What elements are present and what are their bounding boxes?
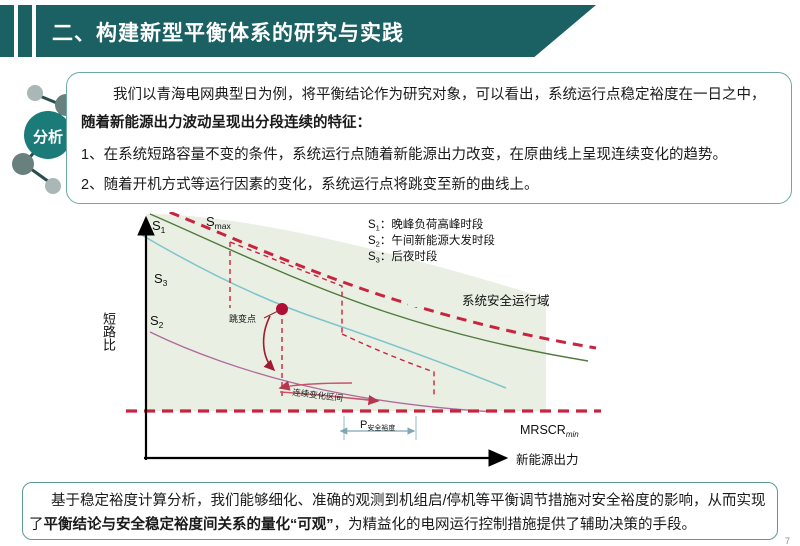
analysis-bullet-1: 1、在系统短路容量不变的条件，系统运行点随着新能源出力改变，在原曲线上呈现连续变…	[81, 143, 727, 164]
scr-vs-renewable-chart: 跳变点 连续变化区间 P安全裕度 MRSCRmin S1 Smax S3 S2 …	[96, 212, 796, 472]
chart-svg: 跳变点 连续变化区间 P安全裕度 MRSCRmin S1 Smax S3 S2 …	[96, 212, 796, 472]
analysis-text-box: 我们以青海电网典型日为例，将平衡结论作为研究对象，可以看出，系统运行点稳定裕度在…	[66, 72, 792, 204]
safety-margin-label: P安全裕度	[360, 419, 395, 432]
legend-area-swatch	[408, 292, 450, 307]
legend-entry-s2: S2：午间新能源大发时段	[368, 233, 495, 249]
conclusion-line-2-c: ，为精益化的电网运行控制措施提供了辅助决策的手段。	[334, 517, 697, 533]
jump-point-marker	[276, 303, 288, 315]
analysis-paragraph: 我们以青海电网典型日为例，将平衡结论作为研究对象，可以看出，系统运行点稳定裕度在…	[113, 83, 766, 104]
conclusion-line-2-b: 平衡结论与安全稳定裕度间关系的量化“可观”	[44, 517, 334, 533]
banner-accent-bar-2	[18, 5, 32, 57]
analysis-highlight: 随着新能源出力波动呈现出分段连续的特征：	[81, 111, 371, 132]
page-number: 7	[785, 536, 790, 546]
title-banner: 二、构建新型平衡体系的研究与实践	[0, 5, 800, 57]
mrscr-min-label: MRSCRmin	[520, 423, 579, 439]
y-axis-title-text: 短路比	[100, 312, 116, 351]
page-title: 二、构建新型平衡体系的研究与实践	[52, 17, 404, 47]
smax-label: Smax	[206, 214, 231, 231]
conclusion-box: 基于稳定裕度计算分析，我们能够细化、准确的观测到机组启/停机等平衡调节措施对安全…	[22, 482, 778, 540]
jump-point-label: 跳变点	[229, 313, 256, 324]
conclusion-line-2-a: 了	[29, 517, 44, 533]
conclusion-line-2: 了平衡结论与安全稳定裕度间关系的量化“可观”，为精益化的电网运行控制措施提供了辅…	[29, 513, 696, 534]
x-axis-title: 新能源出力	[516, 452, 579, 467]
conclusion-line-1: 基于稳定裕度计算分析，我们能够细化、准确的观测到机组启/停机等平衡调节措施对安全…	[51, 489, 766, 510]
legend-area-label: 系统安全运行域	[462, 293, 550, 308]
safe-area-extension	[146, 362, 546, 411]
analysis-bullet-2: 2、随着开机方式等运行因素的变化，系统运行点将跳变至新的曲线上。	[81, 173, 539, 194]
banner-accent-bar-1	[0, 5, 14, 57]
legend-entry-s1: S1：晚峰负荷高峰时段	[368, 217, 484, 233]
y-axis-title: 短路比	[100, 312, 116, 355]
